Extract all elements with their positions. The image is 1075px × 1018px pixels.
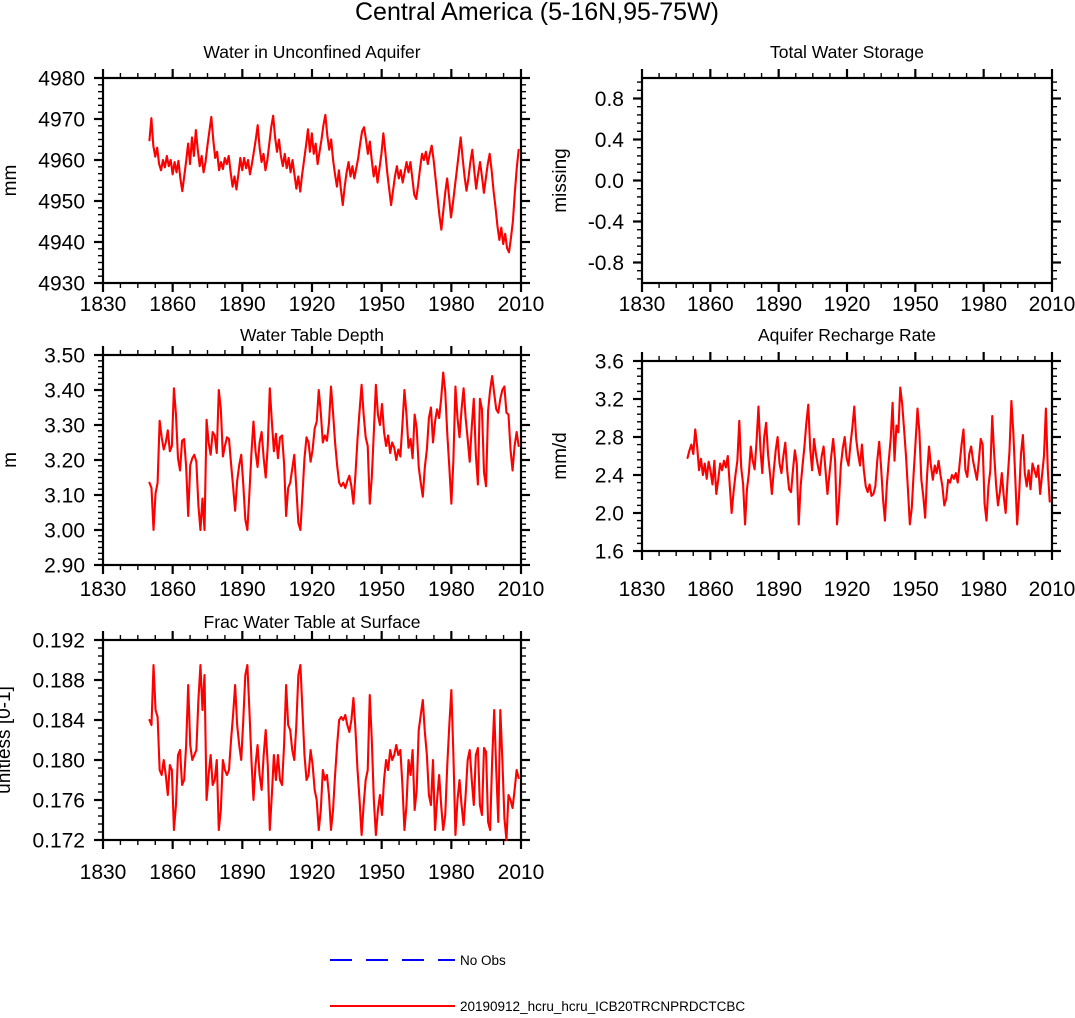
y-tick-label: 0.180: [32, 750, 85, 773]
x-tick-label: 1950: [358, 293, 405, 316]
x-tick-label: 1920: [289, 578, 336, 601]
y-tick-label: 1.6: [595, 541, 624, 564]
legend-item: 20190912_hcru_hcru_ICB20TRCNPRDCTCBC: [330, 999, 745, 1014]
y-tick-label: 3.00: [44, 520, 85, 543]
y-axis-label: mm/d: [550, 432, 571, 480]
y-tick-label: 4960: [38, 150, 85, 173]
y-tick-label: 3.6: [595, 351, 624, 374]
panel-title: Water in Unconfined Aquifer: [203, 42, 420, 62]
x-tick-label: 1860: [687, 578, 734, 601]
x-tick-label: 1980: [428, 578, 475, 601]
x-tick-label: 2010: [1029, 293, 1075, 316]
y-tick-label: -0.4: [588, 211, 625, 234]
x-tick-label: 1980: [960, 293, 1007, 316]
y-tick-label: -0.8: [588, 252, 624, 275]
panel-water-in-unconfined-aquifer: Water in Unconfined Aquifer1830186018901…: [0, 42, 544, 316]
y-tick-label: 4980: [38, 68, 85, 91]
y-tick-label: 0.188: [32, 670, 85, 693]
x-tick-label: 1860: [149, 293, 196, 316]
x-tick-label: 2010: [1029, 578, 1075, 601]
plot-frame: [103, 355, 521, 565]
x-tick-label: 1890: [755, 293, 802, 316]
figure-title: Central America (5-16N,95-75W): [355, 0, 719, 26]
y-axis-label: unitless [0-1]: [0, 686, 15, 794]
x-tick-label: 1920: [824, 293, 871, 316]
x-tick-label: 1980: [428, 293, 475, 316]
series-line: [149, 115, 518, 252]
y-tick-label: 3.50: [44, 345, 85, 368]
x-tick-label: 1980: [960, 578, 1007, 601]
panel-frac-water-table-at-surface: Frac Water Table at Surface1830186018901…: [0, 612, 544, 884]
y-tick-label: 0.8: [595, 88, 624, 111]
series-line: [149, 373, 518, 531]
y-tick-label: 4940: [38, 232, 85, 255]
legend: No Obs20190912_hcru_hcru_ICB20TRCNPRDCTC…: [330, 953, 745, 1014]
y-tick-label: 0.192: [32, 630, 85, 653]
series-line: [149, 665, 518, 840]
y-axis-label: mm: [0, 165, 21, 197]
y-tick-label: 0.176: [32, 790, 85, 813]
legend-label: No Obs: [460, 953, 506, 968]
panel-total-water-storage: Total Water Storage183018601890192019501…: [550, 42, 1075, 316]
y-tick-label: 3.20: [44, 450, 85, 473]
y-axis-label: missing: [550, 148, 571, 212]
panel-title: Frac Water Table at Surface: [204, 612, 421, 632]
y-tick-label: 3.30: [44, 415, 85, 438]
x-tick-label: 1890: [219, 293, 266, 316]
x-tick-label: 1980: [428, 861, 475, 884]
y-axis-label: m: [0, 452, 21, 468]
x-tick-label: 2010: [498, 578, 545, 601]
y-tick-label: 2.4: [595, 465, 625, 488]
y-tick-label: 0.172: [32, 830, 85, 853]
plot-frame: [642, 78, 1052, 283]
panel-aquifer-recharge-rate: Aquifer Recharge Rate1830186018901920195…: [550, 325, 1075, 601]
panel-water-table-depth: Water Table Depth18301860189019201950198…: [0, 325, 544, 601]
series-line: [688, 388, 1050, 525]
y-tick-label: 0.0: [595, 170, 624, 193]
y-tick-label: 3.2: [595, 389, 624, 412]
x-tick-label: 1950: [358, 861, 405, 884]
x-tick-label: 1860: [687, 293, 734, 316]
x-tick-label: 1920: [824, 578, 871, 601]
legend-item: No Obs: [330, 953, 506, 968]
panel-title: Total Water Storage: [770, 42, 924, 62]
x-tick-label: 1860: [149, 861, 196, 884]
panel-group: Water in Unconfined Aquifer1830186018901…: [0, 42, 1075, 884]
y-tick-label: 4950: [38, 191, 85, 214]
y-tick-label: 2.8: [595, 427, 624, 450]
x-tick-label: 1950: [358, 578, 405, 601]
y-tick-label: 3.10: [44, 485, 85, 508]
y-tick-label: 4970: [38, 109, 85, 132]
x-tick-label: 1890: [219, 861, 266, 884]
figure-canvas: Central America (5-16N,95-75W) Water in …: [0, 0, 1075, 1018]
legend-label: 20190912_hcru_hcru_ICB20TRCNPRDCTCBC: [460, 999, 745, 1014]
y-tick-label: 2.0: [595, 503, 624, 526]
x-tick-label: 1920: [289, 861, 336, 884]
y-tick-label: 0.184: [32, 710, 85, 733]
x-tick-label: 1890: [219, 578, 266, 601]
x-tick-label: 1950: [892, 578, 939, 601]
y-tick-label: 0.4: [595, 129, 625, 152]
y-tick-label: 4930: [38, 273, 85, 296]
panel-title: Water Table Depth: [240, 325, 384, 345]
plot-frame: [103, 640, 521, 840]
x-tick-label: 1830: [80, 861, 127, 884]
x-tick-label: 1830: [80, 578, 127, 601]
x-tick-label: 1920: [289, 293, 336, 316]
plot-frame: [103, 78, 521, 283]
x-tick-label: 1890: [755, 578, 802, 601]
x-tick-label: 2010: [498, 861, 545, 884]
x-tick-label: 1830: [619, 578, 666, 601]
panel-title: Aquifer Recharge Rate: [758, 325, 936, 345]
x-tick-label: 2010: [498, 293, 545, 316]
x-tick-label: 1830: [619, 293, 666, 316]
x-tick-label: 1830: [80, 293, 127, 316]
y-tick-label: 2.90: [44, 555, 85, 578]
y-tick-label: 3.40: [44, 380, 85, 403]
x-tick-label: 1950: [892, 293, 939, 316]
x-tick-label: 1860: [149, 578, 196, 601]
